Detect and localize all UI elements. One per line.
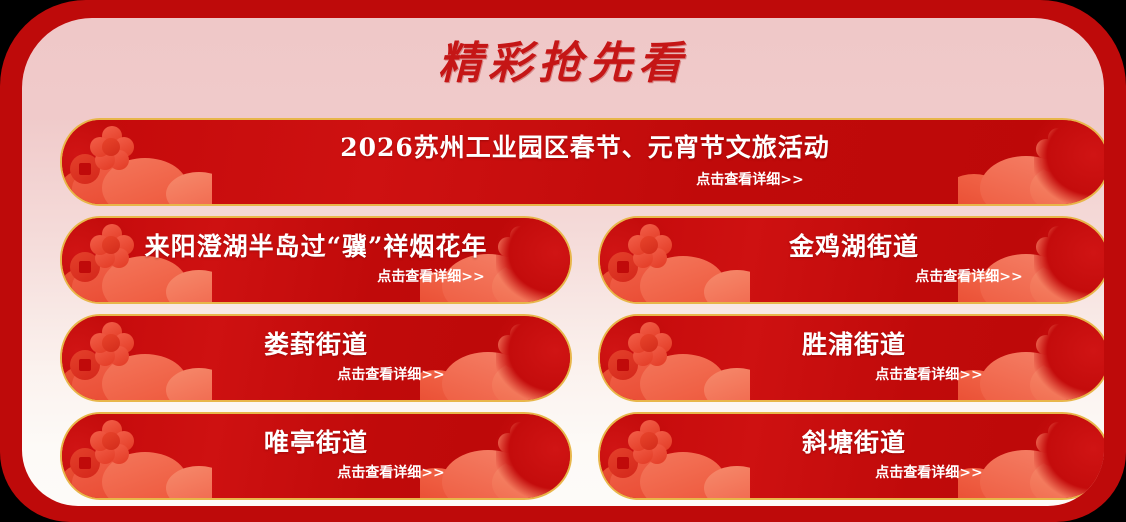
banner-more-link[interactable]: 点击查看详细>> (875, 364, 982, 384)
content-panel: 精彩抢先看 (22, 18, 1104, 506)
banner-more-link[interactable]: 点击查看详细>> (696, 169, 803, 189)
auspicious-cloud-icon (492, 360, 562, 400)
auspicious-cloud-icon (640, 354, 726, 400)
auspicious-cloud-icon (980, 254, 1072, 302)
banner-row-2: 来阳澄湖半岛过“骥”祥烟花年 点击查看详细>> (22, 216, 1104, 304)
plum-blossom-icon (1036, 422, 1080, 466)
auspicious-cloud-icon (1030, 458, 1100, 498)
auspicious-cloud-icon (1030, 262, 1100, 302)
auspicious-cloud-icon (72, 264, 134, 302)
banner-card-loufeng-subdistrict[interactable]: 娄葑街道 点击查看详细>> (60, 314, 572, 402)
banner-text-block: 娄葑街道 点击查看详细>> (62, 316, 570, 400)
plum-blossom-icon (90, 224, 134, 268)
auspicious-cloud-icon (1030, 164, 1100, 204)
banner-row-3: 娄葑街道 点击查看详细>> (22, 314, 1104, 402)
chinese-coin-icon (608, 350, 638, 380)
banner-row-1: 2026苏州工业园区春节、元宵节文旅活动 点击查看详细>> (22, 118, 1104, 206)
banner-card-xietang-subdistrict[interactable]: 斜塘街道 点击查看详细>> (598, 412, 1104, 500)
banner-text-block: 胜浦街道 点击查看详细>> (600, 316, 1104, 400)
auspicious-cloud-icon (600, 366, 644, 396)
plum-blossom-icon (498, 422, 542, 466)
chinese-coin-icon (608, 448, 638, 478)
decoration-left (62, 414, 212, 498)
decoration-right (420, 218, 570, 302)
auspicious-cloud-icon (600, 464, 644, 494)
decoration-right (958, 218, 1104, 302)
auspicious-cloud-icon (958, 174, 1004, 204)
auspicious-cloud-icon (980, 450, 1072, 498)
banner-text-block: 2026苏州工业园区春节、元宵节文旅活动 点击查看详细>> (62, 120, 1104, 204)
banner-text-block: 金鸡湖街道 点击查看详细>> (600, 218, 1104, 302)
banner-title: 斜塘街道 (802, 430, 906, 456)
auspicious-cloud-icon (62, 268, 106, 298)
auspicious-cloud-icon (492, 458, 562, 498)
banner-card-shengpu-subdistrict[interactable]: 胜浦街道 点击查看详细>> (598, 314, 1104, 402)
auspicious-cloud-icon (72, 460, 134, 498)
chinese-coin-icon (70, 350, 100, 380)
auspicious-cloud-icon (62, 366, 106, 396)
auspicious-cloud-icon (102, 354, 188, 400)
auspicious-cloud-icon (166, 270, 212, 302)
chinese-coin-icon (70, 448, 100, 478)
auspicious-cloud-icon (958, 370, 1004, 400)
banner-card-festival-activities[interactable]: 2026苏州工业园区春节、元宵节文旅活动 点击查看详细>> (60, 118, 1104, 206)
banner-title: 娄葑街道 (264, 332, 368, 358)
auspicious-cloud-icon (704, 368, 750, 400)
auspicious-cloud-icon (640, 452, 726, 498)
plum-blossom-icon (1036, 226, 1080, 270)
banner-title: 唯亭街道 (264, 430, 368, 456)
auspicious-cloud-icon (102, 158, 188, 204)
banner-card-weiting-subdistrict[interactable]: 唯亭街道 点击查看详细>> (60, 412, 572, 500)
auspicious-cloud-icon (166, 172, 212, 204)
banner-more-link[interactable]: 点击查看详细>> (875, 462, 982, 482)
auspicious-cloud-icon (102, 256, 188, 302)
auspicious-cloud-icon (62, 464, 106, 494)
auspicious-cloud-icon (62, 170, 106, 200)
auspicious-cloud-icon (442, 254, 534, 302)
auspicious-cloud-icon (980, 352, 1072, 400)
auspicious-cloud-icon (704, 270, 750, 302)
banner-text-block: 来阳澄湖半岛过“骥”祥烟花年 点击查看详细>> (62, 218, 570, 302)
screenshot-stage: 精彩抢先看 (0, 0, 1126, 522)
banner-more-link[interactable]: 点击查看详细>> (337, 462, 444, 482)
auspicious-cloud-icon (166, 466, 212, 498)
auspicious-cloud-icon (610, 362, 672, 400)
plum-blossom-icon (90, 126, 134, 170)
banner-card-jinji-lake-subdistrict[interactable]: 金鸡湖街道 点击查看详细>> (598, 216, 1104, 304)
banner-title: 来阳澄湖半岛过“骥”祥烟花年 (145, 234, 488, 260)
banner-row-4: 唯亭街道 点击查看详细>> (22, 412, 1104, 500)
banner-more-link[interactable]: 点击查看详细>> (915, 266, 1022, 286)
banner-title: 金鸡湖街道 (789, 234, 919, 260)
decoration-left (62, 120, 212, 204)
auspicious-cloud-icon (166, 368, 212, 400)
plum-blossom-icon (90, 322, 134, 366)
banner-text-block: 唯亭街道 点击查看详细>> (62, 414, 570, 498)
auspicious-cloud-icon (420, 272, 466, 302)
banner-title: 2026苏州工业园区春节、元宵节文旅活动 (340, 135, 830, 161)
auspicious-cloud-icon (600, 268, 644, 298)
chinese-coin-icon (70, 154, 100, 184)
plum-blossom-icon (498, 226, 542, 270)
decoration-left (62, 316, 212, 400)
auspicious-cloud-icon (704, 466, 750, 498)
page-title: 精彩抢先看 (22, 42, 1104, 86)
auspicious-cloud-icon (640, 256, 726, 302)
auspicious-cloud-icon (958, 272, 1004, 302)
auspicious-cloud-icon (72, 166, 134, 204)
decoration-right (420, 316, 570, 400)
banner-title: 胜浦街道 (802, 332, 906, 358)
plum-blossom-icon (628, 322, 672, 366)
plum-blossom-icon (628, 224, 672, 268)
decoration-left (600, 414, 750, 498)
decoration-left (600, 316, 750, 400)
plum-blossom-icon (1036, 324, 1080, 368)
auspicious-cloud-icon (610, 460, 672, 498)
banner-more-link[interactable]: 点击查看详细>> (377, 266, 484, 286)
plum-blossom-icon (628, 420, 672, 464)
auspicious-cloud-icon (492, 262, 562, 302)
decoration-right (420, 414, 570, 498)
banner-more-link[interactable]: 点击查看详细>> (337, 364, 444, 384)
auspicious-cloud-icon (442, 450, 534, 498)
plum-blossom-icon (1036, 128, 1080, 172)
auspicious-cloud-icon (102, 452, 188, 498)
auspicious-cloud-icon (420, 370, 466, 400)
auspicious-cloud-icon (420, 468, 466, 498)
banner-card-yangcheng-lake[interactable]: 来阳澄湖半岛过“骥”祥烟花年 点击查看详细>> (60, 216, 572, 304)
plum-blossom-icon (90, 420, 134, 464)
decoration-right (958, 316, 1104, 400)
auspicious-cloud-icon (958, 468, 1004, 498)
auspicious-cloud-icon (442, 352, 534, 400)
auspicious-cloud-icon (980, 156, 1072, 204)
auspicious-cloud-icon (72, 362, 134, 400)
plum-blossom-icon (498, 324, 542, 368)
auspicious-cloud-icon (1030, 360, 1100, 400)
auspicious-cloud-icon (610, 264, 672, 302)
decoration-right (958, 120, 1104, 204)
banner-text-block: 斜塘街道 点击查看详细>> (600, 414, 1104, 498)
decoration-right (958, 414, 1104, 498)
chinese-coin-icon (70, 252, 100, 282)
decoration-left (62, 218, 212, 302)
outer-red-frame: 精彩抢先看 (0, 0, 1126, 522)
decoration-left (600, 218, 750, 302)
chinese-coin-icon (608, 252, 638, 282)
